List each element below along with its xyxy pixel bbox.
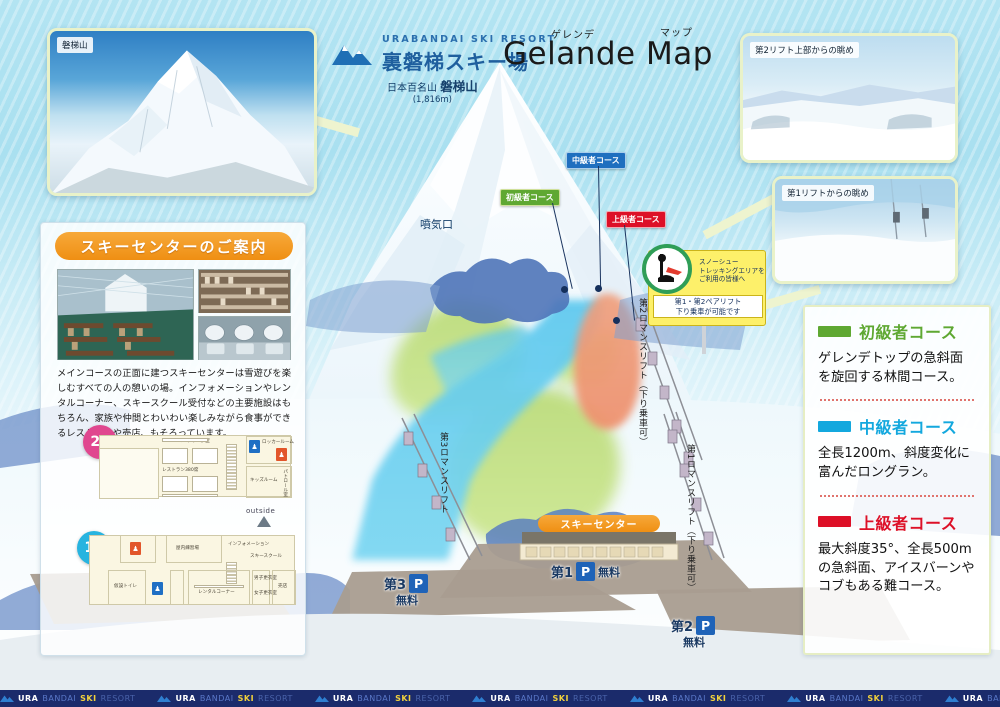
footer-resort: RESORT: [258, 694, 293, 703]
photo-card-lift1[interactable]: 第1リフトからの眺め: [772, 176, 958, 284]
mountain-logo-icon: [0, 694, 14, 703]
legend-swatch-intermediate: [818, 421, 851, 432]
footer-brand-item: URABANDAISKIRESORT: [157, 694, 292, 703]
page-header: URABANDAI SKI RESORT 裏磐梯スキー場 ゲレンデ マップ Ge…: [330, 18, 710, 76]
course-label-advanced[interactable]: 上級者コース: [606, 211, 666, 228]
footer-ura: URA: [18, 694, 38, 703]
parking-number-2: 第2: [671, 616, 693, 635]
page-title: Gelande Map: [503, 36, 713, 72]
course-legend-panel: 初級者コース ゲレンデトップの急斜面を旋回する林間コース。 中級者コース 全長1…: [803, 305, 991, 655]
legend-title-beginner: 初級者コース: [859, 319, 957, 343]
snowshoe-notice-box: 第1・第2ペアリフト 下り乗車が可能です: [653, 295, 763, 318]
footer-ura: URA: [805, 694, 825, 703]
photo-caption-lift2: 第2リフト上部からの眺め: [750, 42, 859, 58]
footer-brand-strip: URABANDAISKIRESORTURABANDAISKIRESORTURAB…: [0, 690, 1000, 707]
photo-caption-bandai: 磐梯山: [57, 37, 93, 53]
washroom-photo: [198, 316, 291, 360]
footer-bandai: BANDAI: [830, 694, 864, 703]
footer-bandai: BANDAI: [357, 694, 391, 703]
snowshoe-notice-sign[interactable]: スノーシュー トレッキングエリアを ご利用の皆様へ 第1・第2ペアリフト 下り乗…: [648, 250, 766, 326]
peak-elevation: (1,816m): [387, 95, 478, 105]
footer-resort: RESORT: [101, 694, 136, 703]
parking-label-3[interactable]: 第3 P: [384, 574, 428, 593]
footer-resort: RESORT: [416, 694, 451, 703]
peak-name: 磐梯山: [440, 79, 478, 94]
womens-restroom-icon-2f: ♟: [276, 448, 287, 461]
parking-icon-3: P: [409, 574, 428, 593]
footer-resort: RESORT: [573, 694, 608, 703]
footer-resort: RESORT: [730, 694, 765, 703]
footer-ski: SKI: [80, 694, 96, 703]
shop-photo: [198, 269, 291, 313]
photo-card-lift2[interactable]: 第2リフト上部からの眺め: [740, 33, 958, 163]
footer-bandai: BANDAI: [987, 694, 1000, 703]
footer-ski: SKI: [553, 694, 569, 703]
info-panel-title: スキーセンターのご案内: [55, 232, 293, 260]
leader-dot-intermediate: [595, 285, 602, 292]
snowshoe-sign-text: スノーシュー トレッキングエリアを ご利用の皆様へ: [699, 258, 765, 284]
lift-label-3: 第3ロマンスリフト: [437, 432, 450, 514]
footer-ski: SKI: [867, 694, 883, 703]
floor-plan-1f: ♟ 屋内練習場 インフォメーション スキースクール 仮設トイレ ♟ レンタルコー…: [89, 535, 295, 605]
parking-label-1[interactable]: 第1 P 無料: [551, 562, 620, 581]
mountain-logo-icon: [945, 694, 959, 703]
photo-card-bandai[interactable]: 磐梯山: [47, 28, 317, 196]
footer-resort: RESORT: [888, 694, 923, 703]
parking-icon-1: P: [576, 562, 595, 581]
womens-restroom-icon-1f: ♟: [130, 542, 141, 555]
legend-head-beginner: 初級者コース: [818, 319, 976, 343]
vent-label: 噴気口: [420, 216, 453, 232]
footer-ski: SKI: [395, 694, 411, 703]
floor1-label-information: インフォメーション: [228, 542, 269, 548]
photo-art-bandai: [50, 31, 314, 195]
footer-brand-item: URABANDAISKIRESORT: [945, 694, 1000, 703]
restaurant-photo: [57, 269, 194, 360]
footer-brand-item: URABANDAISKIRESORT: [630, 694, 765, 703]
mountain-logo-icon: [315, 694, 329, 703]
leader-dot-advanced: [613, 317, 620, 324]
floor2-label-locker: ロッカールーム: [262, 440, 294, 446]
footer-ura: URA: [175, 694, 195, 703]
parking-price-1: 無料: [598, 564, 620, 580]
parking-label-2[interactable]: 第2 P: [671, 616, 715, 635]
legend-swatch-beginner: [818, 326, 851, 337]
floor1-label-practice: 屋内練習場: [176, 546, 199, 552]
mountain-logo-icon: [472, 694, 486, 703]
floor2-open-area: [99, 448, 159, 499]
legend-body-intermediate: 全長1200m、斜度変化に富んだロングラン。: [818, 445, 976, 482]
legend-head-intermediate: 中級者コース: [818, 414, 976, 438]
lift-label-1: 第1ロマンスリフト（下り乗車可）: [684, 444, 697, 593]
footer-ura: URA: [333, 694, 353, 703]
parking-price-2: 無料: [683, 634, 705, 650]
peak-prefix: 日本百名山: [387, 83, 437, 94]
outside-label: outside: [246, 507, 275, 515]
parking-price-3: 無料: [396, 592, 418, 608]
footer-ski: SKI: [238, 694, 254, 703]
mountain-logo-icon: [157, 694, 171, 703]
footer-brand-item: URABANDAISKIRESORT: [0, 694, 135, 703]
snowshoe-notice-line2: 下り乗車が可能です: [654, 307, 762, 317]
legend-swatch-advanced: [818, 516, 851, 527]
footer-brand-item: URABANDAISKIRESORT: [787, 694, 922, 703]
floor-plan-2f: ミーティング室 レストラン380席 ♟ ♟ ロッカールーム キッズルーム パトロ…: [99, 435, 291, 497]
course-label-intermediate[interactable]: 中級者コース: [566, 152, 626, 169]
legend-title-advanced: 上級者コース: [859, 510, 957, 534]
footer-ura: URA: [963, 694, 983, 703]
mountain-logo-icon: [787, 694, 801, 703]
photo-caption-lift1: 第1リフトからの眺め: [782, 185, 874, 201]
legend-body-beginner: ゲレンデトップの急斜面を旋回する林間コース。: [818, 350, 976, 387]
snowshoe-line3: ご利用の皆様へ: [699, 275, 765, 284]
course-label-beginner[interactable]: 初級者コース: [500, 189, 560, 206]
snowshoe-line1: スノーシュー: [699, 258, 765, 267]
footer-brand-item: URABANDAISKIRESORT: [315, 694, 450, 703]
outside-arrow-icon: [257, 516, 271, 527]
snowshoe-line2: トレッキングエリアを: [699, 267, 765, 276]
snowshoe-notice-line1: 第1・第2ペアリフト: [654, 297, 762, 307]
floor2-stairs: [226, 444, 237, 490]
no-snowshoe-lift-icon: [642, 244, 692, 294]
mens-restroom-icon-1f: ♟: [152, 582, 163, 595]
floor2-label-kids: キッズルーム: [250, 478, 277, 484]
footer-bandai: BANDAI: [672, 694, 706, 703]
floor2-label-restaurant: レストラン380席: [162, 468, 198, 474]
mens-restroom-icon-2f: ♟: [249, 440, 260, 453]
parking-number-3: 第3: [384, 574, 406, 593]
floor1-label-shop: 売店: [278, 584, 287, 590]
leader-dot-beginner: [561, 286, 568, 293]
footer-ski: SKI: [710, 694, 726, 703]
mountain-logo-icon: [630, 694, 644, 703]
floor1-label-school: スキースクール: [250, 554, 282, 560]
footer-ura: URA: [490, 694, 510, 703]
footer-bandai: BANDAI: [515, 694, 549, 703]
footer-bandai: BANDAI: [200, 694, 234, 703]
floor1-label-rental: レンタルコーナー: [198, 590, 235, 596]
legend-separator-2: [820, 495, 974, 497]
footer-ura: URA: [648, 694, 668, 703]
parking-icon-2: P: [696, 616, 715, 635]
footer-bandai: BANDAI: [42, 694, 76, 703]
ski-center-map-label[interactable]: スキーセンター: [538, 515, 660, 532]
legend-body-advanced: 最大斜度35°、全長500mの急斜面、アイスバーンやコブもある難コース。: [818, 541, 976, 597]
legend-separator-1: [820, 399, 974, 401]
ski-center-info-panel: スキーセンターのご案内: [40, 222, 306, 656]
floor1-label-temp-toilet: 仮設トイレ: [114, 584, 137, 590]
footer-brand-item: URABANDAISKIRESORT: [472, 694, 607, 703]
legend-title-intermediate: 中級者コース: [859, 414, 957, 438]
peak-label: 日本百名山 磐梯山 (1,816m): [387, 76, 478, 105]
floor2-label-patrol: パトロール室: [282, 469, 288, 497]
legend-head-advanced: 上級者コース: [818, 510, 976, 534]
parking-number-1: 第1: [551, 562, 573, 581]
mountain-logo-icon: [330, 40, 374, 68]
gelande-map-page: URABANDAI SKI RESORT 裏磐梯スキー場 ゲレンデ マップ Ge…: [0, 0, 1000, 707]
